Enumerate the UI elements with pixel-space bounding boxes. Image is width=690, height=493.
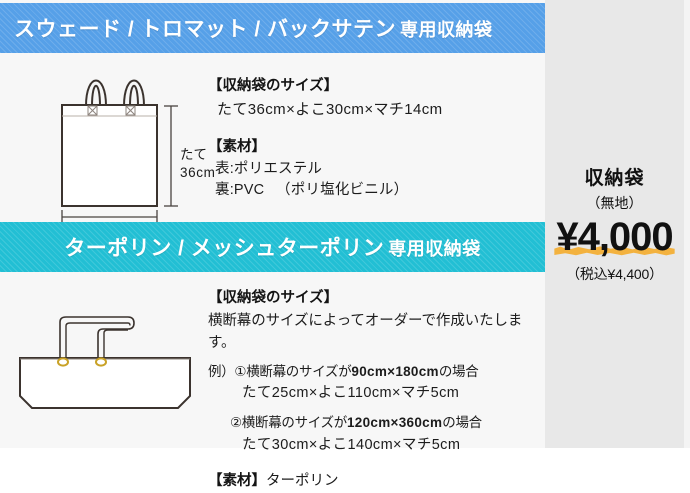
size-value-1: たて36cm×よこ30cm×マチ14cm: [208, 98, 538, 122]
price-product-name: 収納袋: [545, 168, 684, 191]
example-2-detail: たて30cm×よこ140cm×マチ5cm: [230, 434, 543, 456]
banner-sub-text-1: 専用収納袋: [400, 20, 493, 40]
height-dimension-line: [164, 106, 178, 206]
details-panel: スウェード / トロマット / バックサテン専用収納袋: [0, 0, 545, 448]
example-1-detail: たて25cm×よこ110cm×マチ5cm: [208, 382, 543, 404]
banner-title-1: スウェード / トロマット / バックサテン専用収納袋: [14, 13, 493, 43]
tote-bag-illustration: たて 36cm よこ30cm: [52, 58, 212, 218]
bag-handle-right-inner: [130, 86, 138, 106]
banner-main-text-1: スウェード / トロマット / バックサテン: [14, 18, 396, 41]
bag-handle-left: [86, 81, 106, 107]
example-1-prefix: 例）①横断幕のサイズが: [208, 364, 351, 379]
price-product-note: （無地）: [545, 193, 684, 213]
product-info-card: スウェード / トロマット / バックサテン専用収納袋: [0, 0, 690, 448]
section-2-specs: 【収納袋のサイズ】 横断幕のサイズによってオーダーで作成いたします。 例）①横断…: [208, 288, 543, 493]
example-1-suffix: の場合: [439, 364, 479, 379]
material-heading-2: 【素材】: [208, 473, 266, 489]
example-1-size: 90cm×180cm: [351, 364, 438, 379]
banner-title-2: ターポリン / メッシュターポリン専用収納袋: [0, 232, 545, 262]
example-2-suffix: の場合: [442, 415, 482, 430]
grommet-left: [58, 358, 68, 365]
price-tax-included: （税込¥4,400）: [545, 264, 684, 284]
section-banner-suede: スウェード / トロマット / バックサテン専用収納袋: [0, 3, 545, 53]
price-amount: ¥4,000: [556, 216, 672, 258]
material-value-2: ターポリン: [266, 473, 339, 489]
price-panel: 収納袋 （無地） ¥4,000 （税込¥4,400）: [545, 0, 690, 448]
size-heading-1: 【収納袋のサイズ】: [208, 76, 538, 98]
bag-body: [62, 105, 157, 206]
example-2-prefix: ②横断幕のサイズが: [230, 415, 347, 430]
bag-handle-left-inner: [92, 86, 100, 106]
size-lead-text: 横断幕のサイズによってオーダーで作成いたします。: [208, 310, 543, 355]
material-line-2: 【素材】ターポリン: [208, 469, 543, 493]
banner-sub-text-2: 専用収納袋: [388, 239, 481, 259]
bag-strap-outer: [60, 317, 134, 362]
banner-main-text-2: ターポリン / メッシュターポリン: [64, 237, 384, 260]
tarpaulin-bag-illustration: [10, 300, 210, 420]
bag-handle-right: [124, 81, 144, 107]
size-heading-2: 【収納袋のサイズ】: [208, 288, 543, 310]
price-block: 収納袋 （無地） ¥4,000 （税込¥4,400）: [545, 168, 684, 284]
example-row-2: ②横断幕のサイズが120cm×360cmの場合 たて30cm×よこ140cm×マ…: [208, 413, 543, 456]
material-front: 表:ポリエステル: [208, 159, 538, 181]
example-row-1: 例）①横断幕のサイズが90cm×180cmの場合 たて25cm×よこ110cm×…: [208, 362, 543, 405]
material-back: 裏:PVC （ポリ塩化ビニル）: [208, 180, 538, 202]
section-1-specs: 【収納袋のサイズ】 たて36cm×よこ30cm×マチ14cm 【素材】 表:ポリ…: [208, 76, 538, 202]
example-2-size: 120cm×360cm: [347, 415, 442, 430]
grommet-right: [96, 358, 106, 365]
material-heading-1: 【素材】: [208, 137, 538, 159]
bag-body-tarpaulin: [20, 358, 190, 408]
price-amount-wrap: ¥4,000: [556, 216, 672, 258]
section-banner-tarpaulin: ターポリン / メッシュターポリン専用収納袋: [0, 222, 545, 272]
